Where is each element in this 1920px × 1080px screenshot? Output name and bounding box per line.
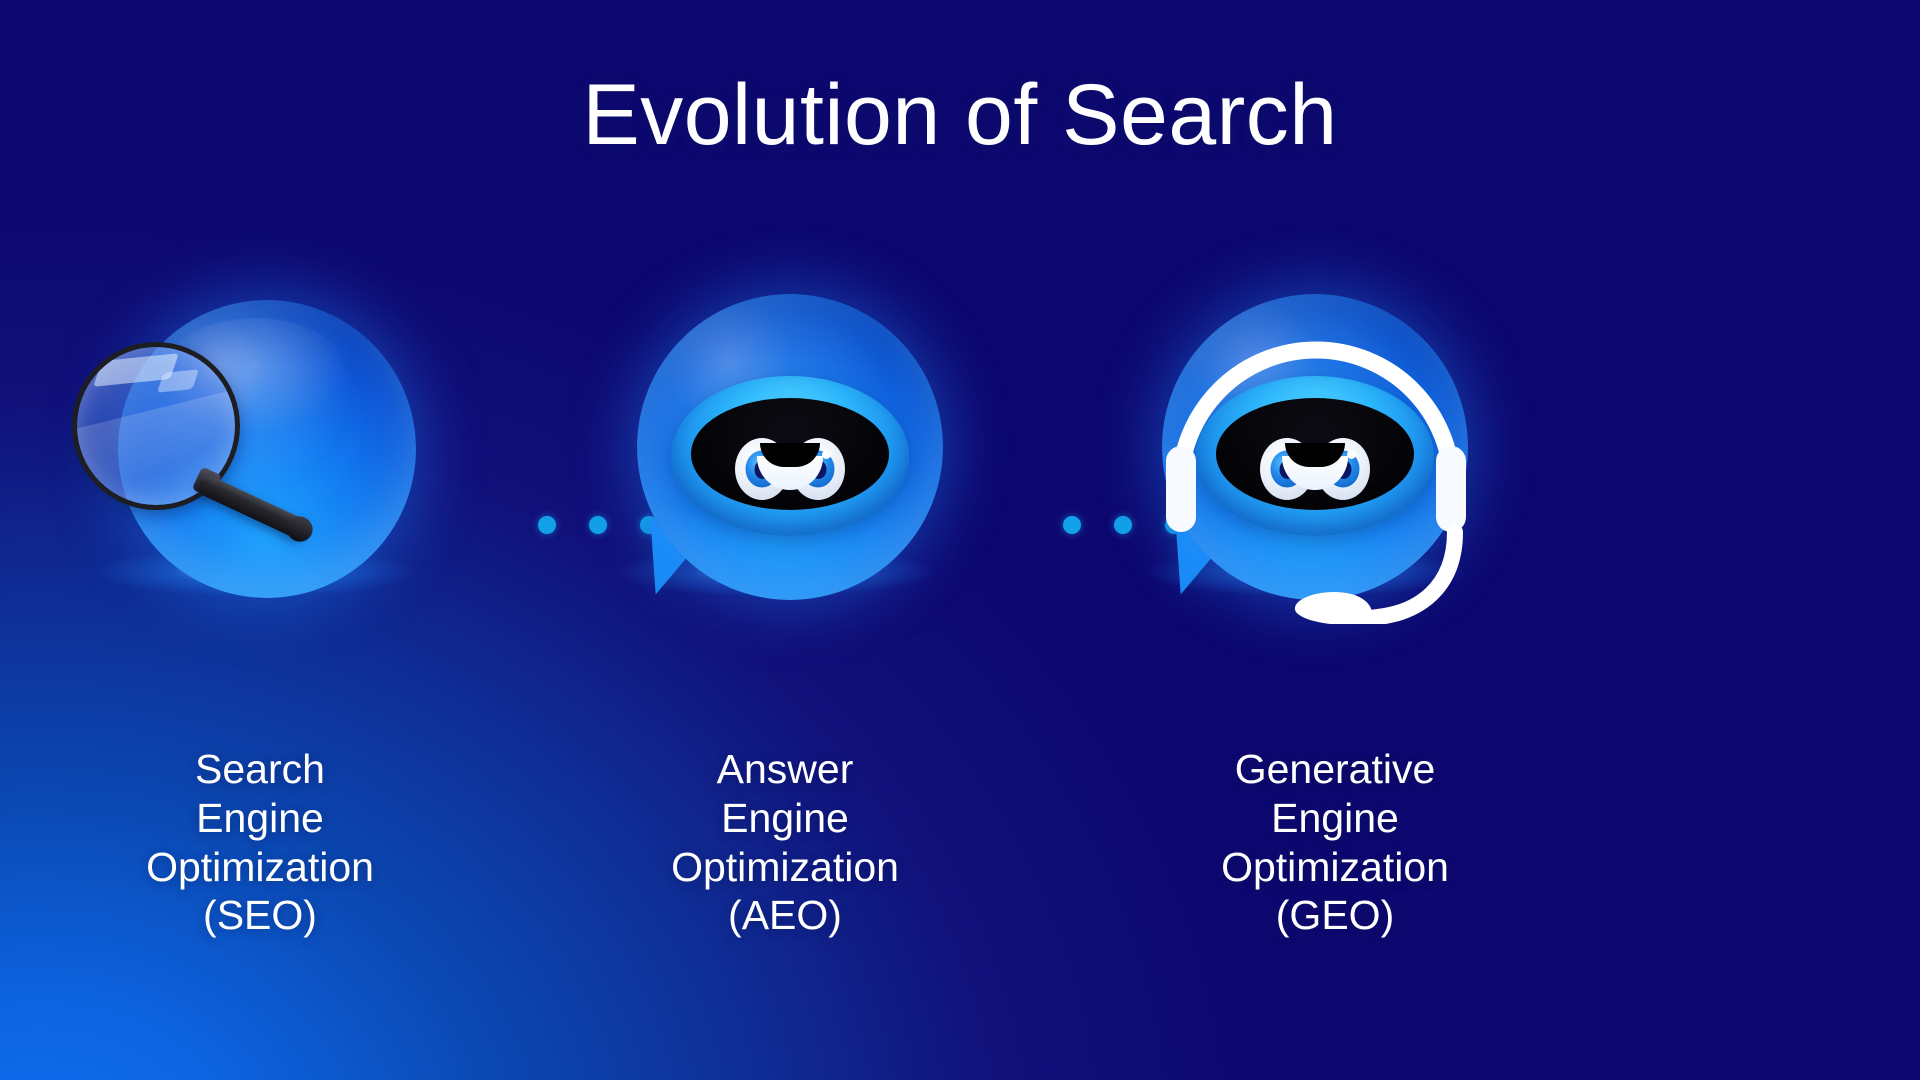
robot-face-icon xyxy=(671,376,909,536)
caption-line: Engine xyxy=(525,794,1045,843)
face-visor xyxy=(1216,398,1414,510)
connector-dot xyxy=(538,516,556,534)
caption-line: Optimization xyxy=(525,843,1045,892)
caption-line: Engine xyxy=(1075,794,1595,843)
stage-aeo[interactable] xyxy=(575,300,995,720)
robot-face-headset-icon xyxy=(1196,376,1434,536)
stage-geo[interactable] xyxy=(1100,300,1520,720)
caption-line: Optimization xyxy=(0,843,520,892)
caption-line: Optimization xyxy=(1075,843,1595,892)
caption-line: Engine xyxy=(0,794,520,843)
stage-seo-caption: Search Engine Optimization (SEO) xyxy=(0,745,520,940)
magnifier-highlight xyxy=(157,369,199,392)
face-visor xyxy=(691,398,889,510)
magnifying-glass-icon xyxy=(50,300,348,598)
caption-line: (SEO) xyxy=(0,891,520,940)
magnifier-handle xyxy=(196,473,312,542)
stage-aeo-caption: Answer Engine Optimization (AEO) xyxy=(525,745,1045,940)
stage-seo[interactable] xyxy=(50,300,470,720)
connector-dot xyxy=(1063,516,1081,534)
stage-geo-caption: Generative Engine Optimization (GEO) xyxy=(1075,745,1595,940)
caption-line: Search xyxy=(0,745,520,794)
page-title: Evolution of Search xyxy=(0,72,1920,158)
infographic-canvas: Evolution of Search Search Engine Optimi… xyxy=(0,0,1920,1080)
caption-line: (GEO) xyxy=(1075,891,1595,940)
caption-line: Generative xyxy=(1075,745,1595,794)
caption-line: (AEO) xyxy=(525,891,1045,940)
caption-line: Answer xyxy=(525,745,1045,794)
